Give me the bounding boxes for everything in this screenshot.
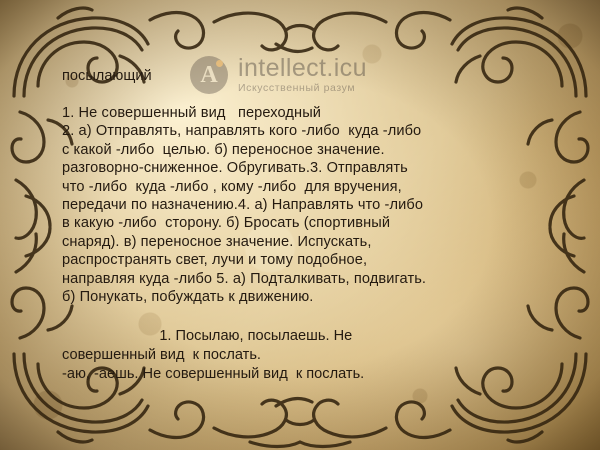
watermark-badge-letter: A [200, 63, 217, 87]
watermark-text-group: intellect.icu Искусственный разум [238, 55, 367, 95]
watermark-subtitle: Искусственный разум [238, 82, 367, 95]
definition-tail: 1. Посылаю, посылаешь. Не совершенный ви… [62, 327, 538, 384]
watermark-title: intellect.icu [238, 55, 367, 81]
watermark-badge-icon: A [190, 56, 228, 94]
watermark: A intellect.icu Искусственный разум [190, 55, 367, 95]
definition-body: 1. Не совершенный вид переходный 2. а) О… [62, 104, 538, 306]
watermark-dot-icon [216, 60, 223, 67]
parchment-page: A intellect.icu Искусственный разум посы… [0, 0, 600, 450]
headword: посылающий [62, 67, 152, 85]
